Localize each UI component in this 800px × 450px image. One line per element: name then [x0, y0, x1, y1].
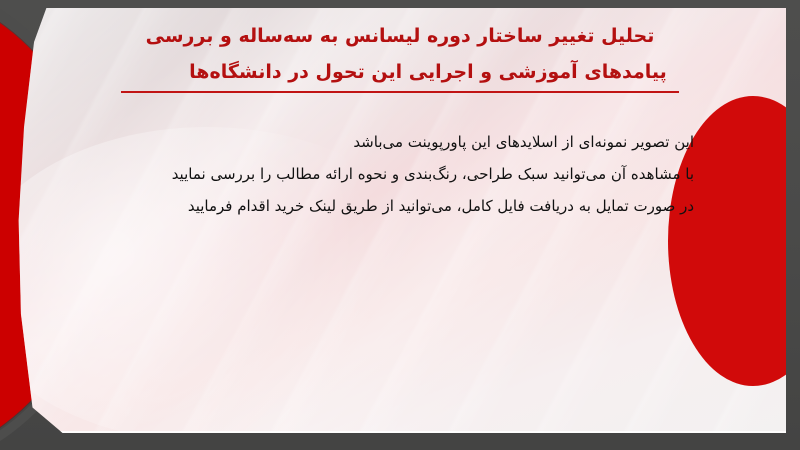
slide-title: تحلیل تغییر ساختار دوره لیسانس به سه‌سال… [14, 18, 786, 93]
body-line-1: این تصویر نمونه‌ای از اسلایدهای این پاور… [172, 126, 694, 158]
body-line-2: با مشاهده آن می‌توانید سبک طراحی، رنگ‌بن… [172, 158, 694, 190]
slide-content-panel: تحلیل تغییر ساختار دوره لیسانس به سه‌سال… [14, 8, 786, 433]
presentation-slide: تحلیل تغییر ساختار دوره لیسانس به سه‌سال… [0, 0, 800, 450]
panel-bottom-highlight [53, 431, 786, 433]
title-line-2: پیامدهای آموزشی و اجرایی این تحول در دان… [121, 54, 679, 93]
slide-body-text: این تصویر نمونه‌ای از اسلایدهای این پاور… [172, 126, 694, 222]
title-line-1: تحلیل تغییر ساختار دوره لیسانس به سه‌سال… [14, 18, 786, 54]
body-line-3: در صورت تمایل به دریافت فایل کامل، می‌تو… [172, 190, 694, 222]
